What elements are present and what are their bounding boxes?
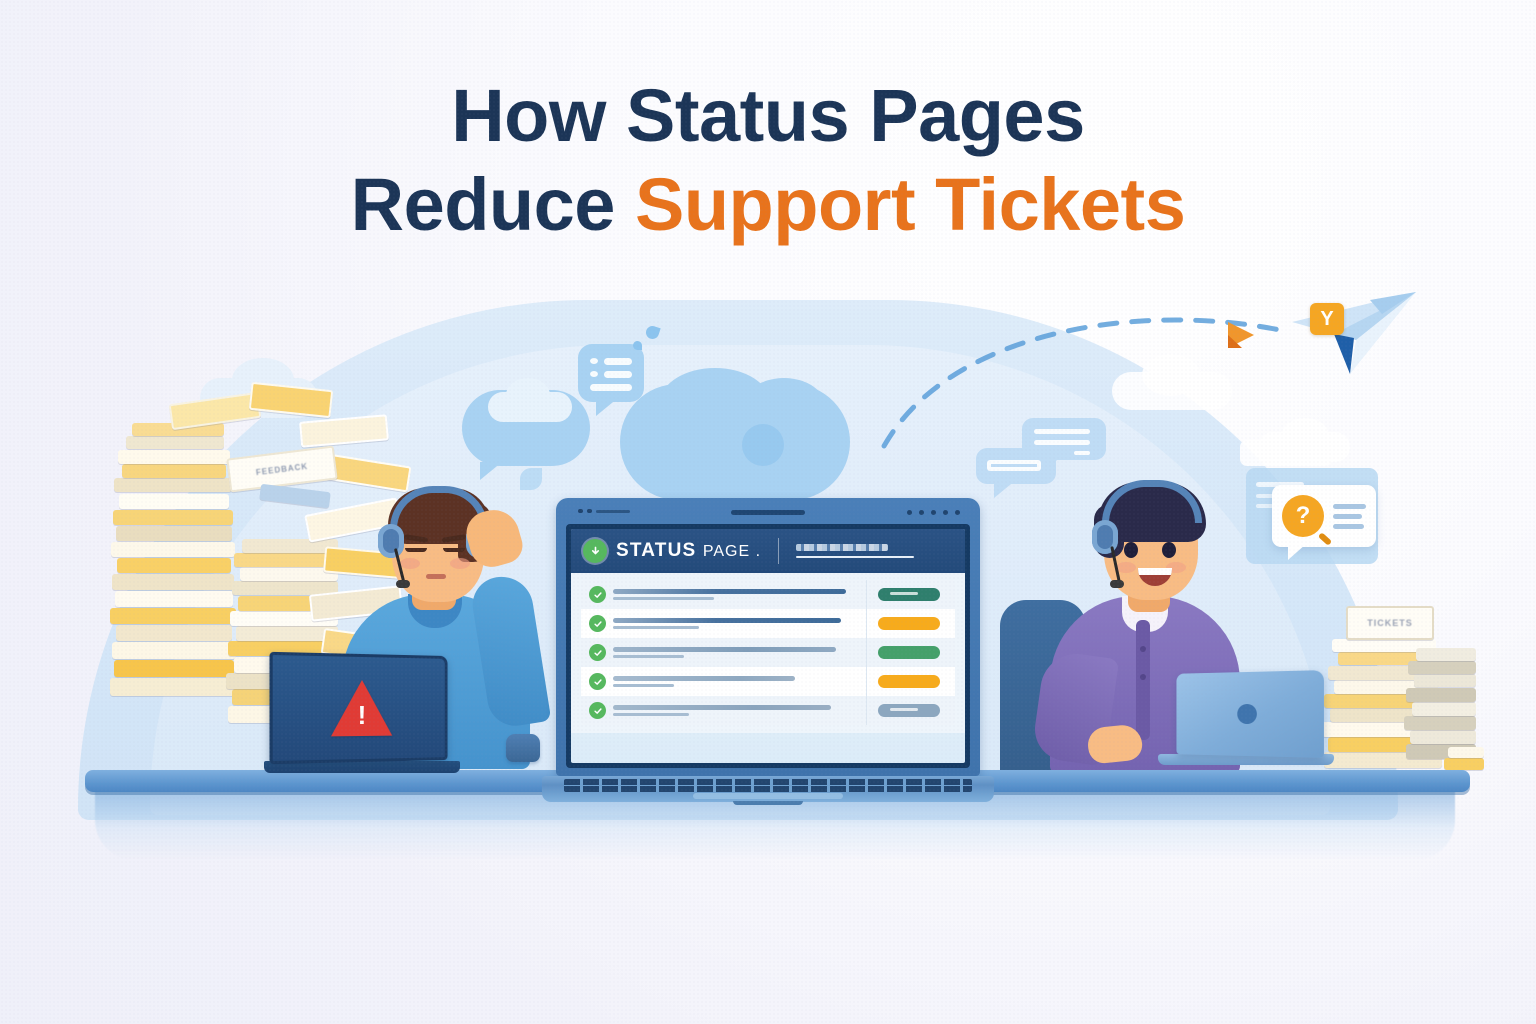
- webcam-speaker-bar: [731, 510, 805, 515]
- status-badge: [878, 675, 940, 688]
- agent-eye-right: [1162, 542, 1176, 558]
- headset-mic-tip-icon: [396, 580, 410, 588]
- status-page-header: STATUS PAGE .: [571, 529, 965, 573]
- laptop-screen: STATUS PAGE .: [571, 529, 965, 763]
- table-row[interactable]: [581, 667, 955, 696]
- x-mark-icon: [742, 424, 784, 466]
- laptop-hinge-foot: [733, 801, 803, 805]
- shirt-button: [1140, 646, 1146, 652]
- agent-laptop-right: [1172, 672, 1334, 765]
- agent-blush-left: [400, 558, 420, 569]
- status-row-list: [581, 580, 955, 725]
- laptop-keyboard[interactable]: [564, 779, 972, 792]
- alert-laptop-lid: [269, 652, 447, 764]
- paper-plane-icon: [1290, 288, 1420, 378]
- agent-eye-right: [443, 548, 465, 552]
- status-cell: [866, 696, 951, 725]
- agent-laptop-lid: [1176, 670, 1324, 758]
- laptop-lid: STATUS PAGE .: [556, 498, 980, 776]
- status-page-header-meta: [796, 544, 953, 558]
- orange-dart-icon: [1228, 322, 1254, 348]
- agent-blush-right: [450, 558, 470, 569]
- agent-eye-left: [1124, 542, 1138, 558]
- shirt-button: [1140, 674, 1146, 680]
- plane-badge-glyph: Y: [1320, 308, 1333, 331]
- plane-badge-icon: Y: [1310, 303, 1344, 335]
- status-badge: [878, 704, 940, 717]
- illustration-canvas: ✕ ✕ ?: [0, 0, 1536, 1024]
- laptop-logo-icon: [1237, 704, 1257, 724]
- warning-triangle-icon: [331, 680, 392, 737]
- cloud-icon: [506, 378, 550, 412]
- header-meta-underline: [796, 556, 914, 558]
- question-glyph: ?: [1296, 504, 1311, 528]
- table-row[interactable]: [581, 696, 955, 725]
- faq-card-lines: [1333, 504, 1366, 529]
- alert-laptop: [272, 654, 460, 773]
- service-name-placeholder: [613, 589, 866, 600]
- status-badge: [878, 646, 940, 659]
- download-circle-icon: [583, 539, 607, 563]
- status-cell: [866, 580, 951, 609]
- check-circle-icon: [589, 702, 606, 719]
- status-cell: [866, 638, 951, 667]
- service-name-placeholder: [613, 647, 866, 658]
- title-line-2-navy: Reduce: [351, 163, 635, 246]
- header-divider: [778, 538, 779, 564]
- header-meta-blurred-text: [796, 544, 888, 551]
- headset-mic-tip-icon: [1110, 580, 1124, 588]
- status-page-body: [571, 573, 965, 733]
- status-page-title-light: PAGE .: [703, 543, 761, 560]
- check-circle-icon: [589, 615, 606, 632]
- bezel-indicator-right: [907, 510, 960, 515]
- chat-bubble-list-icon: [578, 344, 644, 402]
- ticket-envelope: [249, 382, 333, 418]
- status-cell: [866, 609, 951, 638]
- table-row[interactable]: [581, 609, 955, 638]
- title-line-2: Reduce Support Tickets: [0, 167, 1536, 242]
- agent-mouth: [426, 574, 446, 579]
- table-row[interactable]: [581, 638, 955, 667]
- magnifier-question-icon: ?: [1282, 495, 1324, 537]
- check-circle-icon: [589, 644, 606, 661]
- status-badge: [878, 617, 940, 630]
- mouse-device: [506, 734, 540, 762]
- title-line-1: How Status Pages: [0, 78, 1536, 153]
- status-badge: [878, 588, 940, 601]
- page-title: How Status Pages Reduce Support Tickets: [0, 78, 1536, 243]
- status-page-title: STATUS PAGE .: [616, 540, 761, 562]
- table-row[interactable]: [581, 580, 955, 609]
- laptop-trackpad[interactable]: [693, 793, 843, 799]
- service-name-placeholder: [613, 705, 866, 716]
- laptop-bezel: STATUS PAGE .: [566, 524, 970, 768]
- labelled-ticket-right: TICKETS: [1346, 606, 1434, 640]
- agent-eye-left: [405, 548, 427, 552]
- faq-help-card[interactable]: ?: [1272, 485, 1376, 547]
- check-circle-icon: [589, 673, 606, 690]
- status-cell: [866, 667, 951, 696]
- stack-label-right: TICKETS: [1367, 618, 1413, 628]
- status-page-title-strong: STATUS: [616, 540, 696, 561]
- bezel-indicator-left: [578, 509, 630, 513]
- agent-blush-left: [1116, 562, 1136, 573]
- headset-earcup-icon: [1092, 520, 1118, 554]
- shirt-placket: [1136, 620, 1150, 740]
- title-line-2-orange: Support Tickets: [635, 163, 1185, 246]
- headset-earcup-icon: [378, 524, 404, 558]
- status-page-laptop: STATUS PAGE .: [556, 498, 980, 802]
- headset-band-icon: [1102, 480, 1202, 523]
- sparkle-icon: [633, 341, 642, 350]
- service-name-placeholder: [613, 676, 866, 687]
- check-circle-icon: [589, 586, 606, 603]
- service-name-placeholder: [613, 618, 866, 629]
- laptop-base: [542, 776, 994, 802]
